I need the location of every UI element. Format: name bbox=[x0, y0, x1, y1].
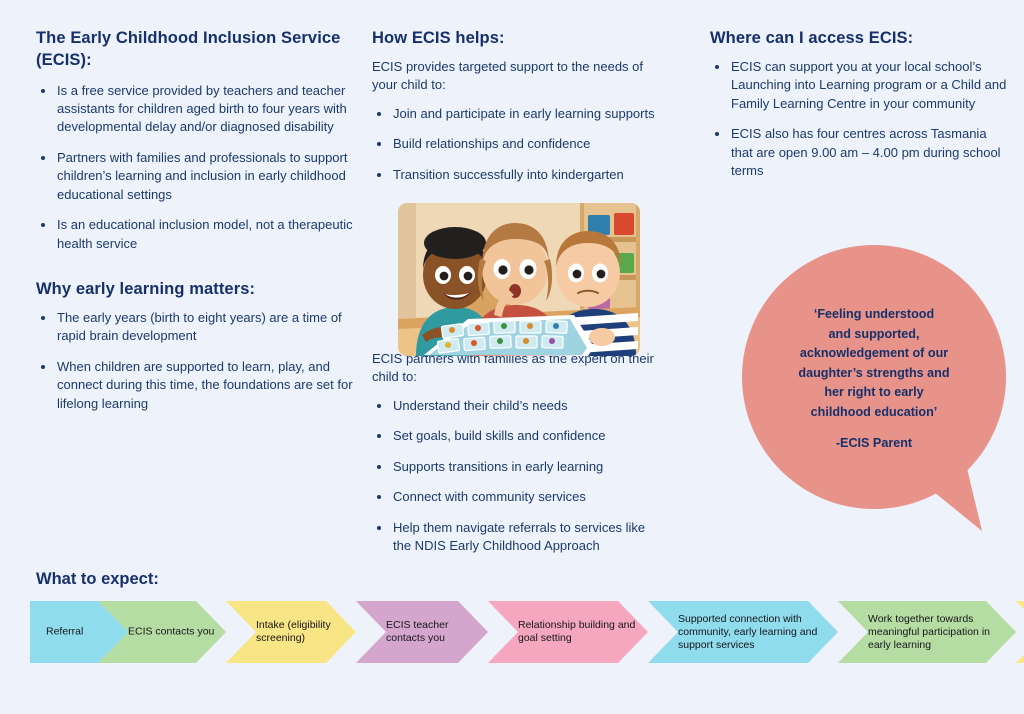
quote-attribution: -ECIS Parent bbox=[770, 434, 978, 454]
quote-line: childhood education’ bbox=[770, 403, 978, 423]
process-step-8[interactable]: Support to successfully transition to ki… bbox=[1016, 601, 1024, 663]
process-step-label: Work together towards meaningful partici… bbox=[868, 613, 1008, 651]
how-ecis-helps-bullet-list: Join and participate in early learning s… bbox=[372, 105, 658, 184]
quote-line: and supported, bbox=[770, 325, 978, 345]
list-item: Set goals, build skills and confidence bbox=[372, 427, 658, 445]
process-step-label: Referral bbox=[46, 626, 120, 639]
ecis-bullet-list: Is a free service provided by teachers a… bbox=[36, 82, 354, 254]
list-item: Help them navigate referrals to services… bbox=[372, 519, 658, 556]
where-access-bullet-list: ECIS can support you at your local schoo… bbox=[710, 58, 1010, 181]
chevron-shape bbox=[1016, 601, 1024, 663]
process-step-1[interactable]: Referral bbox=[30, 601, 128, 663]
process-step-label: Relationship building and goal setting bbox=[518, 619, 640, 645]
section-title-how-ecis-helps: How ECIS helps: bbox=[372, 28, 658, 50]
list-item: Partners with families and professionals… bbox=[36, 149, 354, 204]
list-item: Build relationships and confidence bbox=[372, 135, 658, 153]
quote-line: her right to early bbox=[770, 383, 978, 403]
quote-line: ‘Feeling understood bbox=[770, 305, 978, 325]
how-ecis-helps-intro: ECIS provides targeted support to the ne… bbox=[372, 58, 658, 95]
process-step-6[interactable]: Supported connection with community, ear… bbox=[648, 601, 838, 663]
quote-text: ‘Feeling understood and supported, ackno… bbox=[770, 305, 978, 454]
process-step-5[interactable]: Relationship building and goal setting bbox=[488, 601, 648, 663]
spacer bbox=[36, 253, 354, 279]
list-item: The early years (birth to eight years) a… bbox=[36, 309, 354, 346]
list-item: Connect with community services bbox=[372, 488, 658, 506]
list-item: ECIS also has four centres across Tasman… bbox=[710, 125, 1010, 180]
process-step-3[interactable]: Intake (eligibility screening) bbox=[226, 601, 356, 663]
process-step-label: Intake (eligibility screening) bbox=[256, 619, 348, 645]
list-item: Is an educational inclusion model, not a… bbox=[36, 216, 354, 253]
children-at-table-illustration bbox=[398, 203, 640, 356]
list-item: Transition successfully into kindergarte… bbox=[372, 166, 658, 184]
process-step-label: ECIS contacts you bbox=[128, 626, 218, 639]
process-step-7[interactable]: Work together towards meaningful partici… bbox=[838, 601, 1016, 663]
infographic-page: The Early Childhood Inclusion Service (E… bbox=[0, 0, 1024, 714]
process-flow-chevrons: ReferralECIS contacts youIntake (eligibi… bbox=[30, 601, 994, 663]
list-item: When children are supported to learn, pl… bbox=[36, 358, 354, 413]
section-title-what-to-expect: What to expect: bbox=[36, 570, 159, 589]
list-item: ECIS can support you at your local schoo… bbox=[710, 58, 1010, 113]
page-title-ecis: The Early Childhood Inclusion Service (E… bbox=[36, 28, 354, 72]
process-step-4[interactable]: ECIS teacher contacts you bbox=[356, 601, 488, 663]
list-item: Understand their child’s needs bbox=[372, 397, 658, 415]
section-title-where-access: Where can I access ECIS: bbox=[710, 28, 1010, 50]
parent-quote-bubble: ‘Feeling understood and supported, ackno… bbox=[742, 243, 1014, 531]
section-title-why-early-learning: Why early learning matters: bbox=[36, 279, 354, 301]
list-item: Is a free service provided by teachers a… bbox=[36, 82, 354, 137]
right-column: Where can I access ECIS: ECIS can suppor… bbox=[710, 28, 1010, 180]
left-column: The Early Childhood Inclusion Service (E… bbox=[36, 28, 354, 413]
ecis-partners-bullet-list: Understand their child’s needs Set goals… bbox=[372, 397, 658, 556]
list-item: Supports transitions in early learning bbox=[372, 458, 658, 476]
why-early-learning-bullet-list: The early years (birth to eight years) a… bbox=[36, 309, 354, 413]
list-item: Join and participate in early learning s… bbox=[372, 105, 658, 123]
quote-line: daughter’s strengths and bbox=[770, 364, 978, 384]
process-step-label: ECIS teacher contacts you bbox=[386, 619, 480, 645]
quote-line: acknowledgement of our bbox=[770, 344, 978, 364]
process-step-label: Supported connection with community, ear… bbox=[678, 613, 830, 651]
